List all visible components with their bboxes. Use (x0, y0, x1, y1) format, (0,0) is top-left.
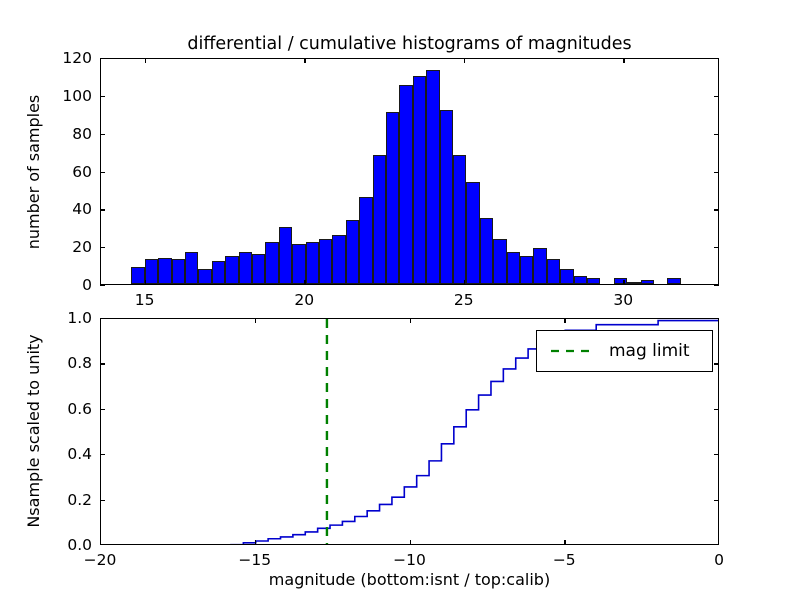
histogram-bar (346, 220, 359, 284)
histogram-bar (252, 254, 265, 284)
histogram-bar (373, 155, 386, 284)
histogram-bar (520, 256, 533, 284)
mag-limit-dash-icon (549, 344, 593, 358)
top-panel-xticklabel: 15 (115, 291, 175, 309)
histogram-bar (426, 70, 439, 284)
histogram-plot-area (101, 59, 718, 284)
top-panel-ytick (714, 285, 719, 286)
bottom-panel-xticklabel: −15 (225, 551, 285, 569)
histogram-bar (319, 239, 332, 284)
top-panel-ytick (100, 285, 105, 286)
top-panel-ytick (714, 96, 719, 97)
histogram-bar (399, 85, 412, 284)
histogram-bar (574, 276, 587, 284)
histogram-bar (440, 110, 453, 284)
histogram-bar (198, 269, 211, 284)
top-panel-ytick (714, 58, 719, 59)
bottom-panel-yticklabel: 0.6 (26, 400, 92, 418)
top-panel-xtick (145, 280, 146, 285)
bottom-panel-ytick (714, 544, 719, 545)
top-panel-ytick (100, 172, 105, 173)
top-panel-ytick (100, 247, 105, 248)
histogram-bar (587, 278, 600, 284)
histogram-bar (413, 76, 426, 284)
histogram-bar (265, 242, 278, 284)
bottom-panel-yticklabel: 1.0 (26, 309, 92, 327)
bottom-panel-ytick (714, 500, 719, 501)
top-panel-xticklabel: 25 (434, 291, 494, 309)
figure-title: differential / cumulative histograms of … (100, 34, 719, 54)
top-panel-xtick (464, 280, 465, 285)
bottom-panel-xticklabel: 0 (689, 551, 749, 569)
histogram-bar (145, 259, 158, 284)
bottom-panel-ytick (714, 454, 719, 455)
histogram-bar (627, 282, 640, 284)
histogram-bar (172, 259, 185, 284)
bottom-panel-ytick (714, 318, 719, 319)
histogram-bar (614, 278, 627, 284)
top-panel-yticklabel: 60 (26, 163, 92, 181)
histogram-bar (158, 258, 171, 284)
bottom-panel-xtick (564, 318, 565, 323)
histogram-bar (466, 182, 479, 284)
bottom-panel-ytick (100, 544, 105, 545)
matplotlib-figure: differential / cumulative histograms of … (0, 0, 800, 600)
top-panel-xtick (623, 58, 624, 63)
top-panel-xtick (464, 58, 465, 63)
histogram-bar (332, 235, 345, 284)
bottom-panel-xtick (410, 540, 411, 545)
legend-box: mag limit (536, 330, 713, 372)
histogram-bar (507, 252, 520, 284)
top-panel-xticklabel: 30 (593, 291, 653, 309)
histogram-bar (533, 248, 546, 284)
histogram-bar (225, 256, 238, 284)
bottom-panel-xlabel: magnitude (bottom:isnt / top:calib) (100, 570, 719, 589)
bottom-panel-ytick (100, 318, 105, 319)
top-panel-yticklabel: 80 (26, 125, 92, 143)
bottom-panel-xtick (255, 540, 256, 545)
histogram-bar (480, 218, 493, 284)
bottom-panel-yticklabel: 0.4 (26, 445, 92, 463)
histogram-bar (306, 242, 319, 284)
bottom-panel-ytick (100, 409, 105, 410)
bottom-panel-ytick (714, 409, 719, 410)
top-panel-yticklabel: 0 (26, 276, 92, 294)
top-panel-yticklabel: 120 (26, 49, 92, 67)
top-panel-ytick (714, 134, 719, 135)
histogram-bar (279, 227, 292, 284)
histogram-bar (667, 278, 680, 284)
histogram-bar (292, 244, 305, 284)
bottom-panel-yticklabel: 0.0 (26, 536, 92, 554)
histogram-bar (185, 252, 198, 284)
bottom-panel-xtick (564, 540, 565, 545)
bottom-panel-ylabel: Nsample scaled to unity (24, 317, 43, 545)
bottom-panel-ytick (714, 363, 719, 364)
histogram-bar (359, 197, 372, 284)
bottom-panel-yticklabel: 0.8 (26, 354, 92, 372)
bottom-panel-xticklabel: −5 (534, 551, 594, 569)
top-panel-yticklabel: 20 (26, 238, 92, 256)
top-panel-xticklabel: 20 (274, 291, 334, 309)
bottom-panel-ytick (100, 363, 105, 364)
histogram-bar (560, 269, 573, 284)
top-panel-xtick (623, 280, 624, 285)
top-panel-ytick (100, 96, 105, 97)
bottom-panel-ytick (100, 454, 105, 455)
top-panel-ytick (714, 172, 719, 173)
top-panel-axes (100, 58, 719, 285)
bottom-panel-ytick (100, 500, 105, 501)
histogram-bar (547, 259, 560, 284)
histogram-bar (131, 267, 144, 284)
top-panel-xtick (145, 58, 146, 63)
top-panel-ytick (714, 209, 719, 210)
top-panel-ytick (100, 134, 105, 135)
top-panel-xtick (304, 280, 305, 285)
bottom-panel-yticklabel: 0.2 (26, 491, 92, 509)
histogram-bar (453, 155, 466, 284)
top-panel-ytick (100, 58, 105, 59)
histogram-bar (641, 280, 654, 284)
histogram-bar (386, 112, 399, 284)
top-panel-ytick (100, 209, 105, 210)
bottom-panel-xtick (410, 318, 411, 323)
histogram-bar (493, 239, 506, 284)
top-panel-xtick (304, 58, 305, 63)
bottom-panel-xticklabel: −10 (380, 551, 440, 569)
histogram-bar (212, 261, 225, 284)
top-panel-ytick (714, 247, 719, 248)
legend-label-mag-limit: mag limit (609, 341, 690, 361)
top-panel-yticklabel: 100 (26, 87, 92, 105)
top-panel-yticklabel: 40 (26, 200, 92, 218)
bottom-panel-xtick (255, 318, 256, 323)
histogram-bar (239, 252, 252, 284)
